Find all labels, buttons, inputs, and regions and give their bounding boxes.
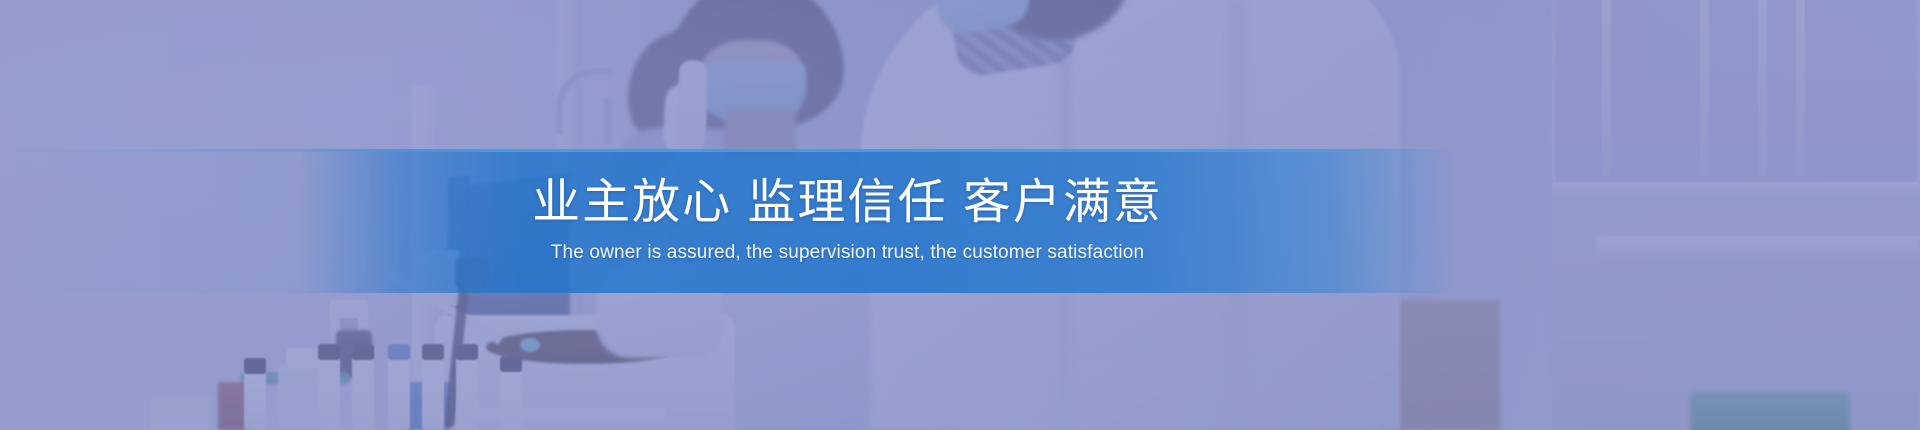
- banner-subline: The owner is assured, the supervision tr…: [551, 241, 1144, 266]
- banner-copy: 业主放心 监理信任 客户满意 The owner is assured, the…: [0, 149, 1455, 293]
- banner-headline: 业主放心 监理信任 客户满意: [532, 176, 1163, 230]
- hero-banner: 业主放心 监理信任 客户满意 The owner is assured, the…: [0, 0, 1920, 430]
